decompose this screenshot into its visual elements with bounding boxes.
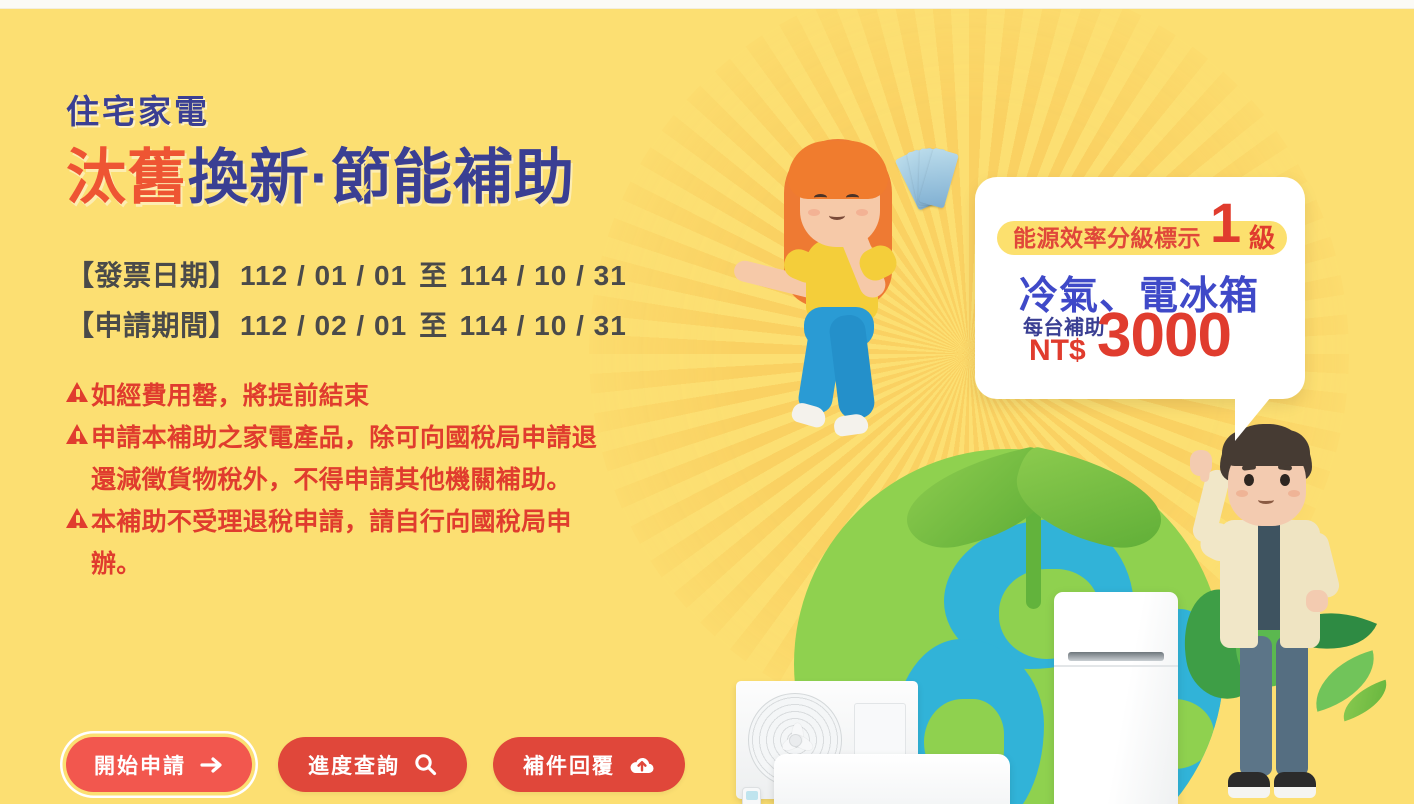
energy-grade-badge: 能源效率分級標示 1 級 [997, 221, 1287, 255]
warning-text: 如經費用罄，將提前結束 [91, 377, 766, 415]
man-eye-left [1244, 474, 1254, 486]
fan-hub [789, 734, 802, 747]
promo-banner-stage: 能源效率分級標示 1 級 冷氣、電冰箱 每台補助 NT$ 3000 住宅家電 汰… [0, 9, 1414, 804]
man-left-leg [1240, 636, 1272, 776]
fridge-handle [1068, 652, 1164, 661]
energy-grade-label: 能源效率分級標示 [1013, 223, 1201, 253]
start-application-button[interactable]: 開始申請 [66, 737, 252, 792]
hero-headline: 汰舊換新·節能補助 [66, 144, 766, 211]
illustration-area [714, 9, 1414, 804]
woman-mouth [829, 211, 845, 220]
warning-note-continuation: 還減徵貨物稅外，不得申請其他機關補助。 [66, 461, 766, 499]
air-conditioner-indoor-unit [774, 754, 1010, 804]
date-separator: 至 [407, 301, 460, 351]
warning-text: 申請本補助之家電產品，除可向國稅局申請退 [91, 419, 766, 457]
warning-triangle-icon [66, 508, 89, 530]
air-conditioner-remote [742, 787, 761, 804]
date-info-block: 【發票日期】112 / 01 / 01至114 / 10 / 31 【申請期間】… [66, 251, 766, 351]
refrigerator-graphic [1054, 592, 1178, 804]
woman-hair-top [788, 141, 888, 199]
date-separator: 至 [407, 251, 460, 301]
headline-separator-dot: · [310, 144, 331, 211]
progress-inquiry-label: 進度查詢 [308, 750, 400, 780]
man-cheek-right [1288, 490, 1300, 497]
action-button-row: 開始申請 進度查詢 補件回覆 [66, 737, 685, 792]
date-row: 【發票日期】112 / 01 / 01至114 / 10 / 31 [66, 251, 766, 301]
date-label: 【申請期間】 [66, 301, 240, 351]
warning-note-continuation: 辦。 [66, 545, 766, 583]
progress-inquiry-button[interactable]: 進度查詢 [278, 737, 467, 792]
man-right-shoe [1274, 772, 1316, 798]
headline-segment-red: 汰舊 [66, 144, 188, 211]
man-left-hand [1190, 450, 1212, 476]
headline-segment-navy-2-wrap: 節能補助 [331, 144, 575, 211]
date-start: 112 / 01 / 01 [240, 260, 407, 291]
subsidy-callout-bubble: 能源效率分級標示 1 級 冷氣、電冰箱 每台補助 NT$ 3000 [975, 177, 1305, 399]
woman-cheek-right [856, 209, 868, 216]
document-resubmission-label: 補件回覆 [523, 750, 615, 780]
outdoor-unit-panel [854, 703, 906, 758]
warning-text: 辦。 [91, 545, 766, 583]
man-left-shoe [1228, 772, 1270, 798]
warning-text: 本補助不受理退稅申請，請自行向國稅局申 [91, 503, 766, 541]
man-right-leg [1276, 636, 1308, 776]
warning-note: 申請本補助之家電產品，除可向國稅局申請退 [66, 419, 766, 457]
man-eye-right [1280, 474, 1290, 486]
hero-text-column: 住宅家電 汰舊換新·節能補助 【發票日期】112 / 01 / 01至114 /… [66, 94, 766, 583]
arrow-right-icon [200, 755, 224, 775]
warning-triangle-icon [66, 382, 89, 404]
document-resubmission-button[interactable]: 補件回覆 [493, 737, 685, 792]
man-cheek-left [1236, 490, 1248, 497]
woman-eye-left [814, 194, 827, 201]
fridge-door-divider [1054, 665, 1178, 667]
man-mouth [1258, 496, 1274, 504]
headline-segment-navy-1: 換新 [188, 144, 310, 211]
warning-text: 還減徵貨物稅外，不得申請其他機關補助。 [91, 461, 766, 499]
warning-note: 如經費用罄，將提前結束 [66, 377, 766, 415]
energy-grade-number: 1 [1210, 195, 1241, 251]
remote-screen [746, 791, 758, 800]
warning-note: 本補助不受理退稅申請，請自行向國稅局申 [66, 503, 766, 541]
subsidy-amount: 3000 [1097, 305, 1231, 367]
woman-right-shoe [833, 413, 869, 438]
cloud-upload-icon [629, 755, 655, 775]
search-icon [414, 753, 437, 776]
man-right-hand [1306, 590, 1328, 612]
jumping-woman-illustration [734, 139, 964, 469]
woman-eye-right [846, 194, 859, 201]
hero-kicker: 住宅家電 [66, 94, 766, 130]
currency-label: NT$ [1029, 334, 1086, 368]
date-row: 【申請期間】112 / 02 / 01至114 / 10 / 31 [66, 301, 766, 351]
woman-cheek-left [808, 209, 820, 216]
warning-triangle-icon [66, 424, 89, 446]
pointing-man-illustration [1184, 424, 1374, 804]
warning-notes-block: 如經費用罄，將提前結束 申請本補助之家電產品，除可向國稅局申請退 還減徵貨物稅外… [66, 377, 766, 583]
start-application-label: 開始申請 [94, 750, 186, 780]
date-end: 114 / 10 / 31 [460, 260, 627, 291]
energy-grade-unit: 級 [1249, 225, 1275, 251]
page-top-strip [0, 0, 1414, 9]
headline-segment-navy-2: 節能補助 [331, 144, 575, 211]
date-label: 【發票日期】 [66, 251, 240, 301]
date-end: 114 / 10 / 31 [460, 310, 627, 341]
date-start: 112 / 02 / 01 [240, 310, 407, 341]
